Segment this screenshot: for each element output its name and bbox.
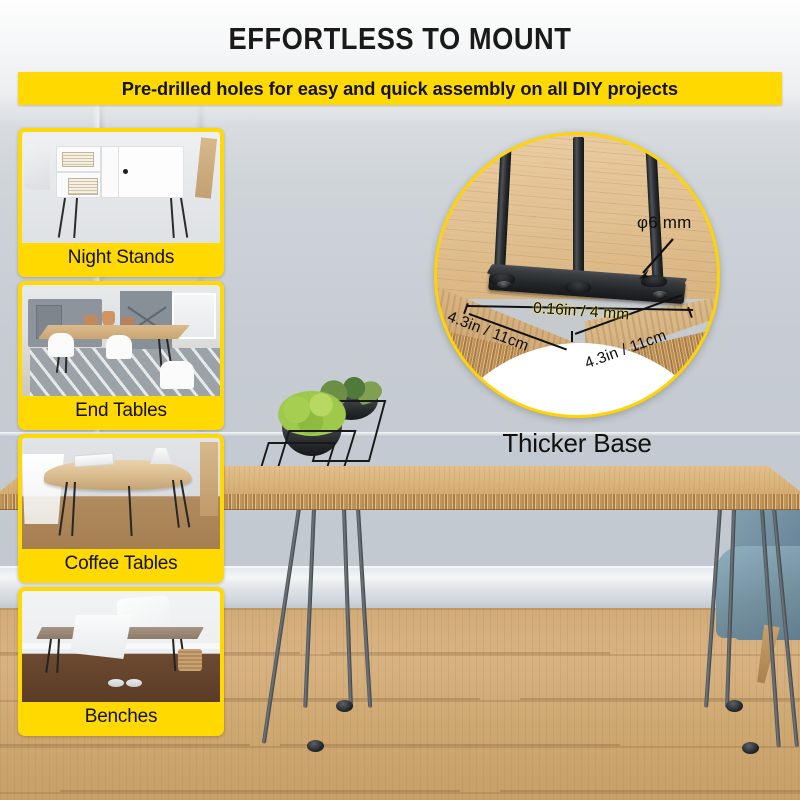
card-photo-benches xyxy=(22,591,220,702)
card-end-tables[interactable]: End Tables xyxy=(18,281,224,430)
callout-caption: Thicker Base xyxy=(434,428,720,459)
detail-callout-circle: 0.16in / 4 mm 4.3in / 11cm 4.3in / 11cm … xyxy=(434,132,720,418)
application-cards: Night Stands End Tables xyxy=(18,128,224,740)
dim-label-plate-thickness: 0.16in / 4 mm xyxy=(532,300,630,325)
dim-tick-center xyxy=(571,331,573,342)
card-coffee-tables[interactable]: Coffee Tables xyxy=(18,434,224,583)
card-label-benches: Benches xyxy=(22,702,220,732)
card-benches[interactable]: Benches xyxy=(18,587,224,736)
hairpin-rod-center xyxy=(573,137,584,287)
hole-pointer-arrow xyxy=(633,237,679,283)
subtitle-banner: Pre-drilled holes for easy and quick ass… xyxy=(18,72,782,105)
card-label-coffee-tables: Coffee Tables xyxy=(22,549,220,579)
moss-ball-foliage xyxy=(274,388,350,436)
card-photo-coffee-tables xyxy=(22,438,220,549)
predrilled-hole-left xyxy=(497,281,511,289)
predrilled-hole-right xyxy=(653,291,667,299)
card-photo-end-tables xyxy=(22,285,220,396)
rod-weld-center xyxy=(565,281,591,293)
subtitle-text: Pre-drilled holes for easy and quick ass… xyxy=(122,78,678,100)
header-gradient-wash xyxy=(0,0,800,126)
card-label-end-tables: End Tables xyxy=(22,396,220,426)
card-label-night-stands: Night Stands xyxy=(22,243,220,273)
page-title: EFFORTLESS TO MOUNT xyxy=(48,21,752,57)
dim-label-hole-diameter: φ6 mm xyxy=(637,213,692,233)
card-night-stands[interactable]: Night Stands xyxy=(18,128,224,277)
card-photo-night-stands xyxy=(22,132,220,243)
